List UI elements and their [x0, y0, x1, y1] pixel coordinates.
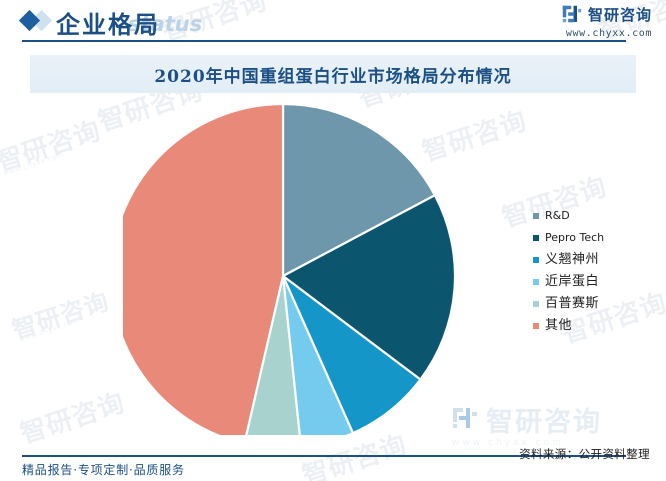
legend-swatch-icon — [533, 301, 539, 307]
legend-item[interactable]: 其他 — [533, 318, 604, 333]
legend-swatch-icon — [533, 257, 539, 263]
legend-swatch-icon — [533, 213, 539, 219]
page-title: 企业格局 — [56, 5, 160, 40]
legend-item[interactable]: R&D — [533, 208, 604, 223]
header-divider — [22, 40, 626, 42]
footer-tagline: 精品报告·专项定制·品质服务 — [22, 461, 185, 478]
legend-item-label: R&D — [545, 208, 570, 223]
legend-item-label: 义翘神州 — [545, 252, 599, 267]
page-header: status 企业格局 智研咨询 www.chyxx.com — [0, 0, 666, 46]
brand-name: 智研咨询 — [588, 4, 652, 25]
chyxx-logo-icon — [562, 5, 582, 25]
legend-item[interactable]: 百普赛斯 — [533, 296, 604, 311]
legend-item[interactable]: 近岸蛋白 — [533, 274, 604, 289]
legend-item[interactable]: 义翘神州 — [533, 252, 604, 267]
chart-title: 2020年中国重组蛋白行业市场格局分布情况 — [30, 55, 636, 93]
pie-slice-group — [123, 104, 455, 435]
legend-swatch-icon — [533, 323, 539, 329]
chart-source-note: 资料来源：公开资料整理 — [519, 446, 650, 462]
legend-item-label: 其他 — [545, 318, 572, 333]
legend-item-label: 百普赛斯 — [545, 296, 599, 311]
brand-url: www.chyxx.com — [562, 28, 652, 39]
legend-item-label: 近岸蛋白 — [545, 274, 599, 289]
slide-page: 智研咨询 www.chyxx.com 智研咨询 www.chyxx.com 智研… — [0, 0, 666, 481]
pie-chart — [123, 95, 543, 435]
legend-swatch-icon — [533, 279, 539, 285]
chart-legend: R&DPepro Tech义翘神州近岸蛋白百普赛斯其他 — [533, 208, 604, 333]
brand-block: 智研咨询 www.chyxx.com — [562, 4, 652, 39]
legend-item[interactable]: Pepro Tech — [533, 230, 604, 245]
legend-swatch-icon — [533, 235, 539, 241]
legend-item-label: Pepro Tech — [545, 230, 604, 245]
